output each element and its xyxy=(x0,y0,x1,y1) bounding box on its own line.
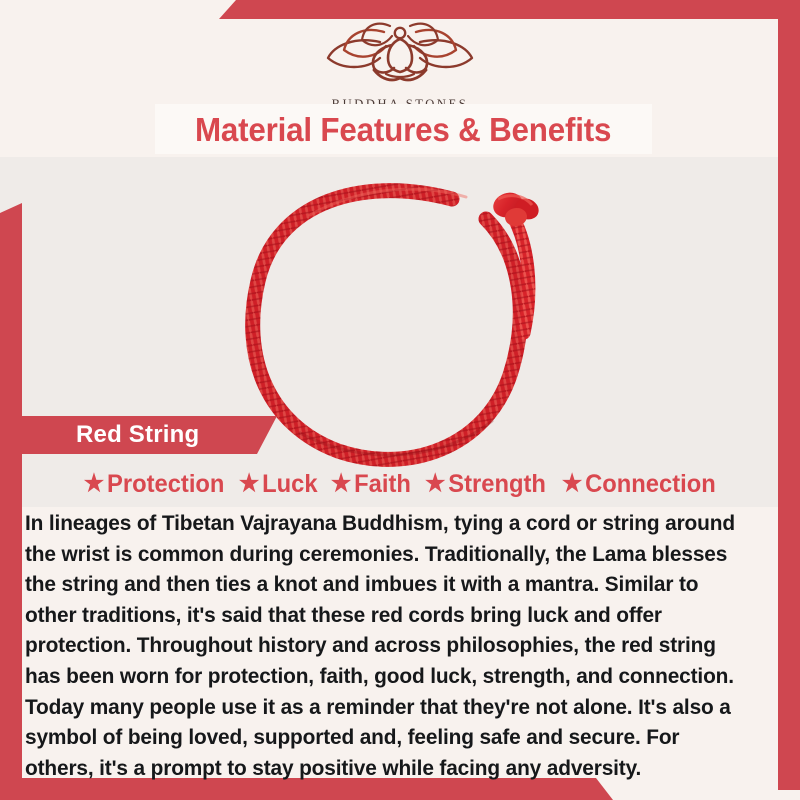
star-icon: ★ xyxy=(562,472,582,496)
header: BUDDHA STONES Material Features & Benefi… xyxy=(0,0,800,157)
red-string-bracelet-photo xyxy=(0,157,800,507)
title-band: Material Features & Benefits xyxy=(155,104,652,154)
product-name-label: Red String xyxy=(22,423,199,447)
page-title: Material Features & Benefits xyxy=(195,113,611,146)
left-accent-bar xyxy=(0,203,22,800)
benefit-label: Protection xyxy=(107,470,224,499)
benefit-item: ★ Luck xyxy=(230,470,317,499)
star-icon: ★ xyxy=(331,472,351,496)
benefit-label: Faith xyxy=(354,470,411,499)
benefit-item: ★ Connection xyxy=(554,470,716,499)
description-block: In lineages of Tibetan Vajrayana Buddhis… xyxy=(25,508,773,783)
bracelet-illustration xyxy=(0,157,800,507)
infographic-page: BUDDHA STONES Material Features & Benefi… xyxy=(0,0,800,800)
benefit-label: Luck xyxy=(262,470,317,499)
benefit-item: ★ Protection xyxy=(83,470,224,499)
benefit-label: Connection xyxy=(585,470,716,499)
benefit-label: Strength xyxy=(448,470,546,499)
lotus-meditation-icon xyxy=(0,12,800,95)
brand-logo: BUDDHA STONES xyxy=(0,12,800,112)
star-icon: ★ xyxy=(425,472,445,496)
star-icon: ★ xyxy=(239,472,259,496)
benefit-item: ★ Strength xyxy=(416,470,545,499)
description-text: In lineages of Tibetan Vajrayana Buddhis… xyxy=(25,508,751,783)
star-icon: ★ xyxy=(83,472,103,496)
product-name-banner: Red String xyxy=(22,416,277,454)
right-accent-bar xyxy=(778,0,800,790)
benefit-item: ★ Faith xyxy=(322,470,411,499)
benefits-row: ★ Protection ★ Luck ★ Faith ★ Strength ★… xyxy=(22,464,778,504)
